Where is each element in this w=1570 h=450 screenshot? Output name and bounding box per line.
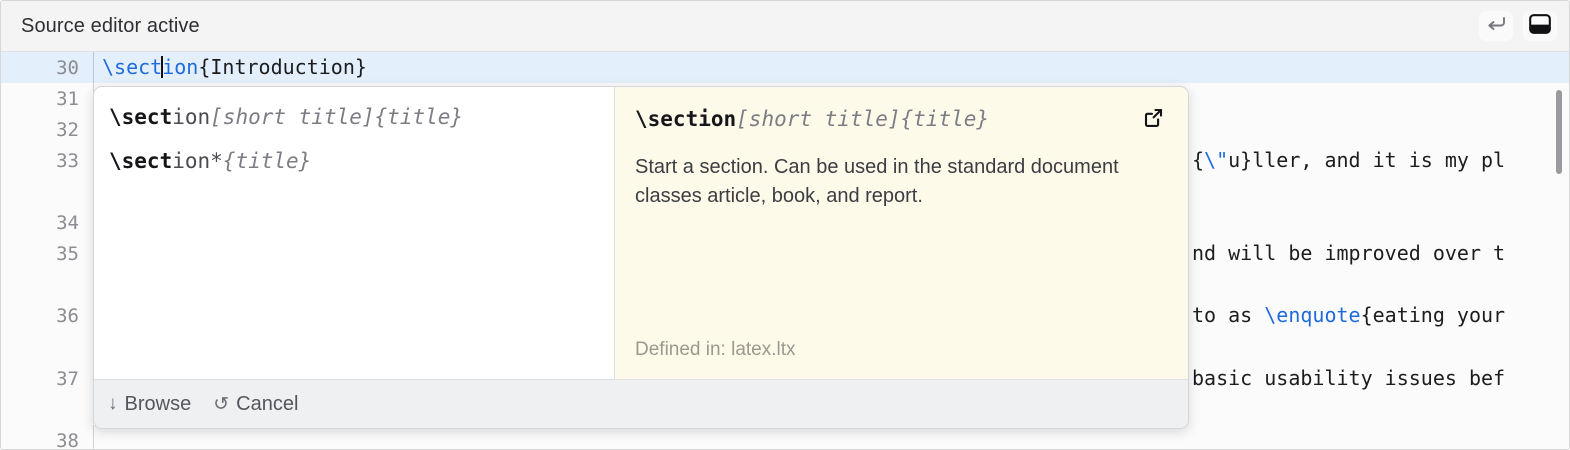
cancel-action[interactable]: ↺ Cancel: [213, 393, 298, 416]
code-token-plain: nd will be improved over t: [1192, 241, 1505, 265]
line-number: 32: [1, 119, 93, 141]
documentation-signature: \section[short title]{title}: [635, 107, 1128, 131]
code-token-plain: basic usability issues bef: [1192, 366, 1505, 390]
completion-args: {title}: [223, 149, 312, 173]
documentation-pane: \section[short title]{title} Start: [615, 87, 1188, 379]
line-number: 34: [1, 212, 93, 234]
documentation-description: Start a section. Can be used in the stan…: [635, 153, 1135, 211]
line-number: 38: [1, 430, 93, 450]
code-token-plain: u}ller, and it is my pl: [1228, 148, 1505, 172]
autocomplete-popup[interactable]: \section[short title]{title} \section*{t…: [93, 86, 1189, 429]
code-token-plain: {eating your: [1361, 303, 1506, 327]
line-number: 36: [1, 305, 93, 327]
undo-arrow-icon: ↺: [213, 393, 229, 416]
documentation-header: \section[short title]{title}: [635, 107, 1166, 133]
code-token-command: ion: [162, 55, 198, 79]
documentation-command-args: [short title]{title}: [736, 107, 989, 131]
page-title: Source editor active: [21, 15, 200, 38]
editor-header-bar: Source editor active: [1, 1, 1570, 52]
completion-match: \sect: [109, 149, 172, 173]
line-number: 30: [1, 57, 93, 79]
completion-list[interactable]: \section[short title]{title} \section*{t…: [94, 87, 615, 379]
external-link-icon: [1141, 106, 1165, 135]
completion-item[interactable]: \section*{title}: [94, 139, 614, 183]
source-editor-window: Source editor active: [0, 0, 1570, 450]
header-actions: [1479, 11, 1557, 41]
code-line-text[interactable]: \section{Introduction}: [93, 52, 1570, 83]
documentation-command-name: \section: [635, 107, 736, 131]
code-token-command: \enquote: [1264, 303, 1360, 327]
completion-item[interactable]: \section[short title]{title}: [94, 95, 614, 139]
line-number: 35: [1, 243, 93, 265]
code-token-plain: {: [1192, 148, 1204, 172]
completion-match: \sect: [109, 105, 172, 129]
editor-scrollbar-thumb[interactable]: [1556, 90, 1562, 174]
editor-scrollbar[interactable]: [1553, 52, 1565, 450]
line-number: 31: [1, 88, 93, 110]
arrow-down-icon: ↓: [108, 393, 118, 415]
code-token-plain: {Introduction}: [198, 55, 367, 79]
return-icon: [1485, 14, 1507, 39]
code-token-plain: to as: [1192, 303, 1264, 327]
return-button[interactable]: [1479, 11, 1513, 41]
completion-args: [short title]{title}: [210, 105, 463, 129]
code-token-command: \sect: [102, 55, 162, 79]
documentation-defined-in: Defined in: latex.ltx: [635, 339, 1166, 361]
completion-rest: ion: [172, 105, 210, 129]
line-number: 37: [1, 368, 93, 390]
code-line[interactable]: 30 \section{Introduction}: [1, 52, 1570, 83]
panel-layout-icon: [1528, 13, 1552, 40]
open-documentation-button[interactable]: [1140, 107, 1166, 133]
completion-rest: ion*: [172, 149, 223, 173]
panel-layout-button[interactable]: [1523, 11, 1557, 41]
line-number: 33: [1, 150, 93, 172]
cancel-label: Cancel: [236, 393, 298, 416]
code-token-command: \": [1204, 148, 1228, 172]
browse-label: Browse: [125, 393, 192, 416]
autocomplete-body: \section[short title]{title} \section*{t…: [94, 87, 1188, 379]
autocomplete-footer: ↓ Browse ↺ Cancel: [94, 379, 1188, 428]
browse-action[interactable]: ↓ Browse: [108, 393, 191, 416]
